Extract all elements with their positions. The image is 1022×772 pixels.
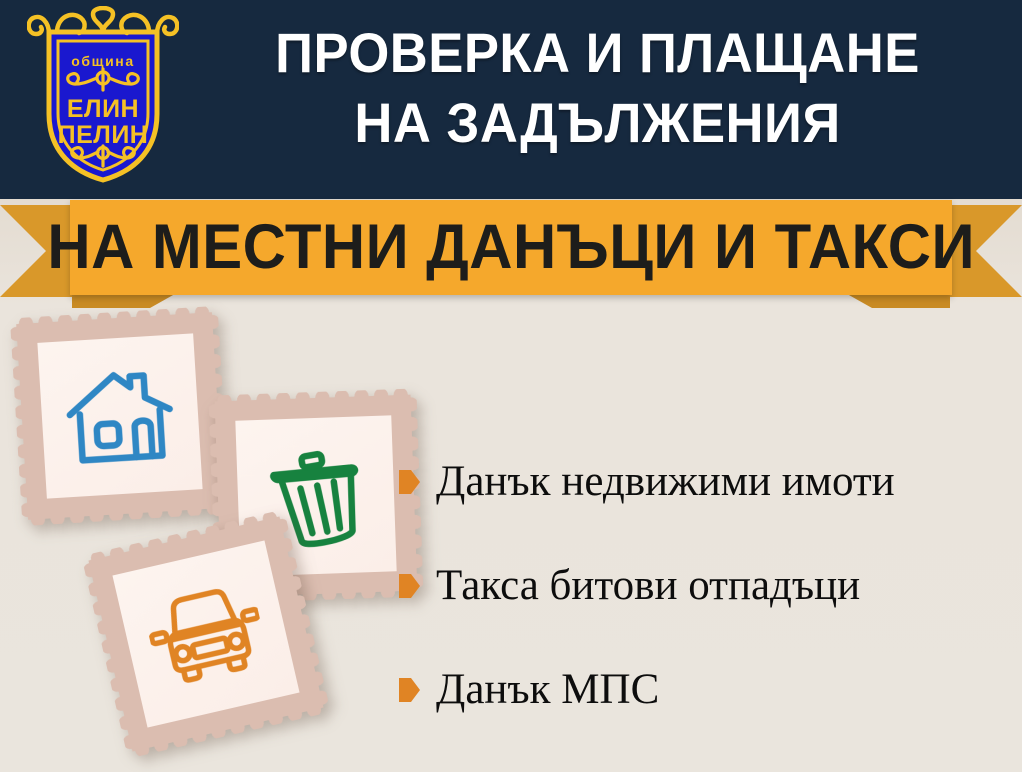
tax-type-list: Данък недвижими имоти Такса битови отпад… [399, 430, 1009, 742]
ribbon-label: НА МЕСТНИ ДАНЪЦИ И ТАКСИ [47, 216, 975, 279]
list-item: Данък недвижими имоти [399, 430, 1009, 534]
page-title: ПРОВЕРКА И ПЛАЩАНЕ НА ЗАДЪЛЖЕНИЯ [190, 18, 1005, 158]
title-line-1: ПРОВЕРКА И ПЛАЩАНЕ [214, 18, 980, 88]
list-item: Данък МПС [399, 638, 1009, 742]
header-bar: община ЕЛИН ПЕЛИН [0, 0, 1022, 199]
stamp-card-car [88, 516, 323, 751]
list-item-label: Данък МПС [436, 666, 659, 714]
poster-canvas: община ЕЛИН ПЕЛИН [0, 0, 1022, 772]
crest-top-label: община [71, 53, 134, 69]
house-icon [63, 363, 177, 469]
arrow-bullet-icon [399, 469, 420, 495]
arrow-bullet-icon [399, 573, 420, 599]
list-item-label: Данък недвижими имоти [436, 458, 895, 506]
subtitle-ribbon: НА МЕСТНИ ДАНЪЦИ И ТАКСИ [0, 198, 1022, 308]
title-line-2: НА ЗАДЪЛЖЕНИЯ [214, 88, 980, 158]
arrow-bullet-icon [399, 677, 420, 703]
car-icon [142, 579, 271, 690]
list-item-label: Такса битови отпадъци [436, 562, 860, 610]
stamp-face-house [37, 333, 202, 498]
stamp-card-house [16, 312, 224, 520]
list-item: Такса битови отпадъци [399, 534, 1009, 638]
municipality-crest-logo: община ЕЛИН ПЕЛИН [27, 6, 179, 188]
ribbon-banner: НА МЕСТНИ ДАНЪЦИ И ТАКСИ [70, 200, 952, 295]
crest-name-line-1: ЕЛИН [67, 95, 139, 123]
